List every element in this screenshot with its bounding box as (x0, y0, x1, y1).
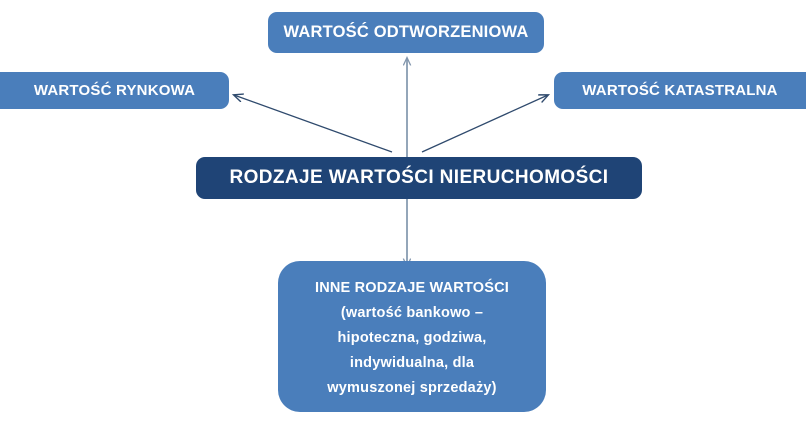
node-rodzaje-wartosci-nieruchomosci[interactable]: RODZAJE WARTOŚCI NIERUCHOMOŚCI (196, 157, 642, 199)
node-label: RODZAJE WARTOŚCI NIERUCHOMOŚCI (229, 167, 608, 189)
edge-left (234, 95, 392, 152)
node-label: WARTOŚĆ ODTWORZENIOWA (284, 23, 529, 42)
node-label-line: INNE RODZAJE WARTOŚCI (315, 276, 509, 301)
node-wartosc-katastralna[interactable]: WARTOŚĆ KATASTRALNA (554, 72, 806, 109)
edge-right (422, 95, 548, 152)
node-wartosc-rynkowa[interactable]: WARTOŚĆ RYNKOWA (0, 72, 229, 109)
diagram-canvas: WARTOŚĆ ODTWORZENIOWA WARTOŚĆ RYNKOWA WA… (0, 0, 806, 424)
node-label: WARTOŚĆ KATASTRALNA (582, 82, 777, 99)
node-label-line: (wartość bankowo – (341, 301, 483, 326)
node-label-line: hipoteczna, godziwa, (337, 326, 486, 351)
node-label-line: wymuszonej sprzedaży) (327, 376, 496, 401)
node-inne-rodzaje-wartosci[interactable]: INNE RODZAJE WARTOŚCI (wartość bankowo –… (278, 261, 546, 412)
node-label: WARTOŚĆ RYNKOWA (34, 82, 195, 99)
node-label-line: indywidualna, dla (350, 351, 474, 376)
node-wartosc-odtworzeniowa[interactable]: WARTOŚĆ ODTWORZENIOWA (268, 12, 544, 53)
